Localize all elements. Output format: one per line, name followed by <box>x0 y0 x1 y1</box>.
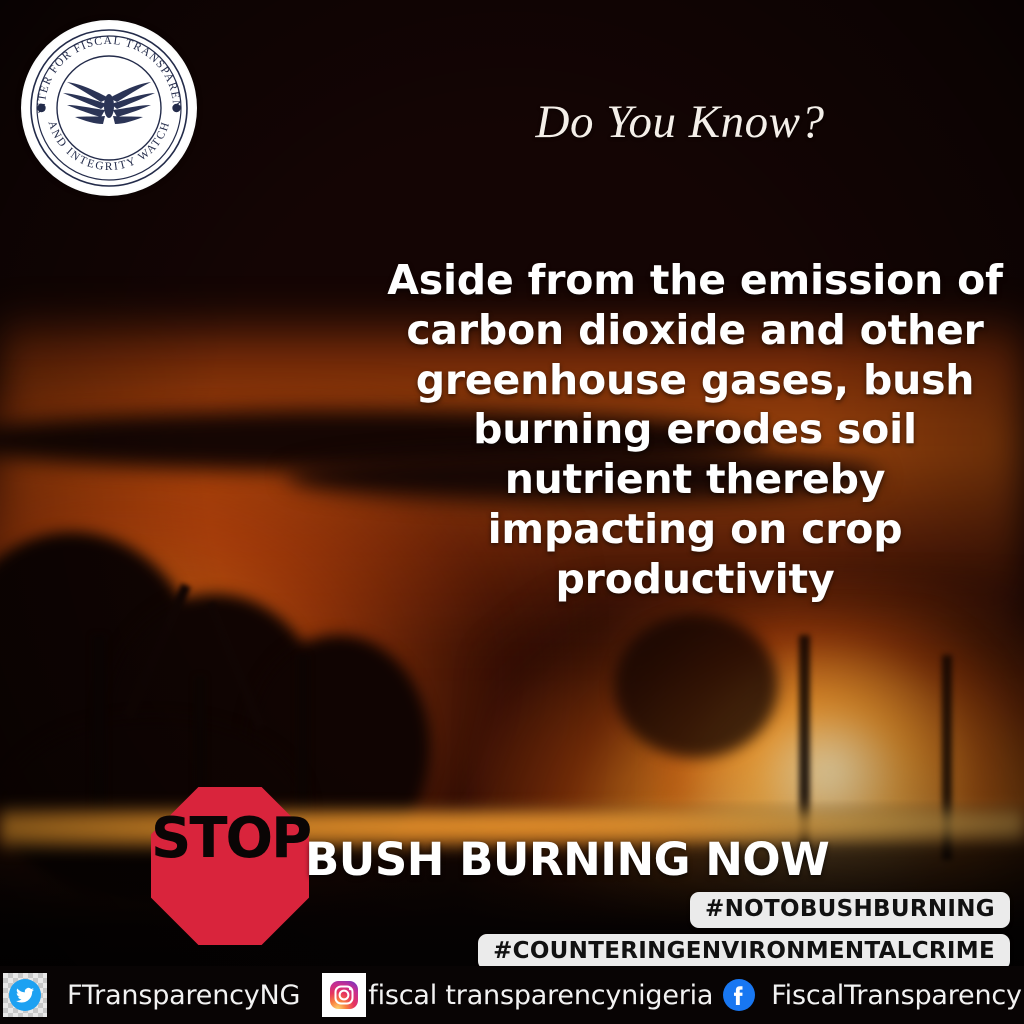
facebook-handle: FiscalTransparency <box>771 980 1022 1011</box>
instagram-handle: fiscal transparencynigeria <box>368 980 713 1011</box>
headline-do-you-know: Do You Know? <box>0 95 1024 149</box>
social-item-twitter[interactable]: FTransparencyNG <box>3 973 300 1017</box>
facebook-icon[interactable] <box>717 973 761 1017</box>
twitter-handle: FTransparencyNG <box>67 980 300 1011</box>
social-item-instagram[interactable]: fiscal transparencynigeria <box>322 973 713 1017</box>
headline-text: Do You Know? <box>536 95 825 149</box>
hashtag-badge: #COUNTERINGENVIRONMENTALCRIME <box>478 934 1010 970</box>
stop-sign-label: STOP <box>151 811 309 867</box>
social-item-facebook[interactable]: FiscalTransparency <box>717 973 1022 1017</box>
stop-sign: STOP <box>151 787 309 945</box>
hashtag-group: #NOTOBUSHBURNING #COUNTERINGENVIRONMENTA… <box>478 892 1010 970</box>
hashtag-badge: #NOTOBUSHBURNING <box>690 892 1010 928</box>
instagram-icon[interactable] <box>322 973 366 1017</box>
body-paragraph: Aside from the emission of carbon dioxid… <box>386 256 1004 605</box>
poster: CENTER FOR FISCAL TRANSPARENCY AND INTEG… <box>0 0 1024 1024</box>
slogan-bush-burning-now: BUSH BURNING NOW <box>305 833 829 886</box>
twitter-icon[interactable] <box>3 973 47 1017</box>
social-footer-bar: FTransparencyNG <box>0 966 1024 1024</box>
